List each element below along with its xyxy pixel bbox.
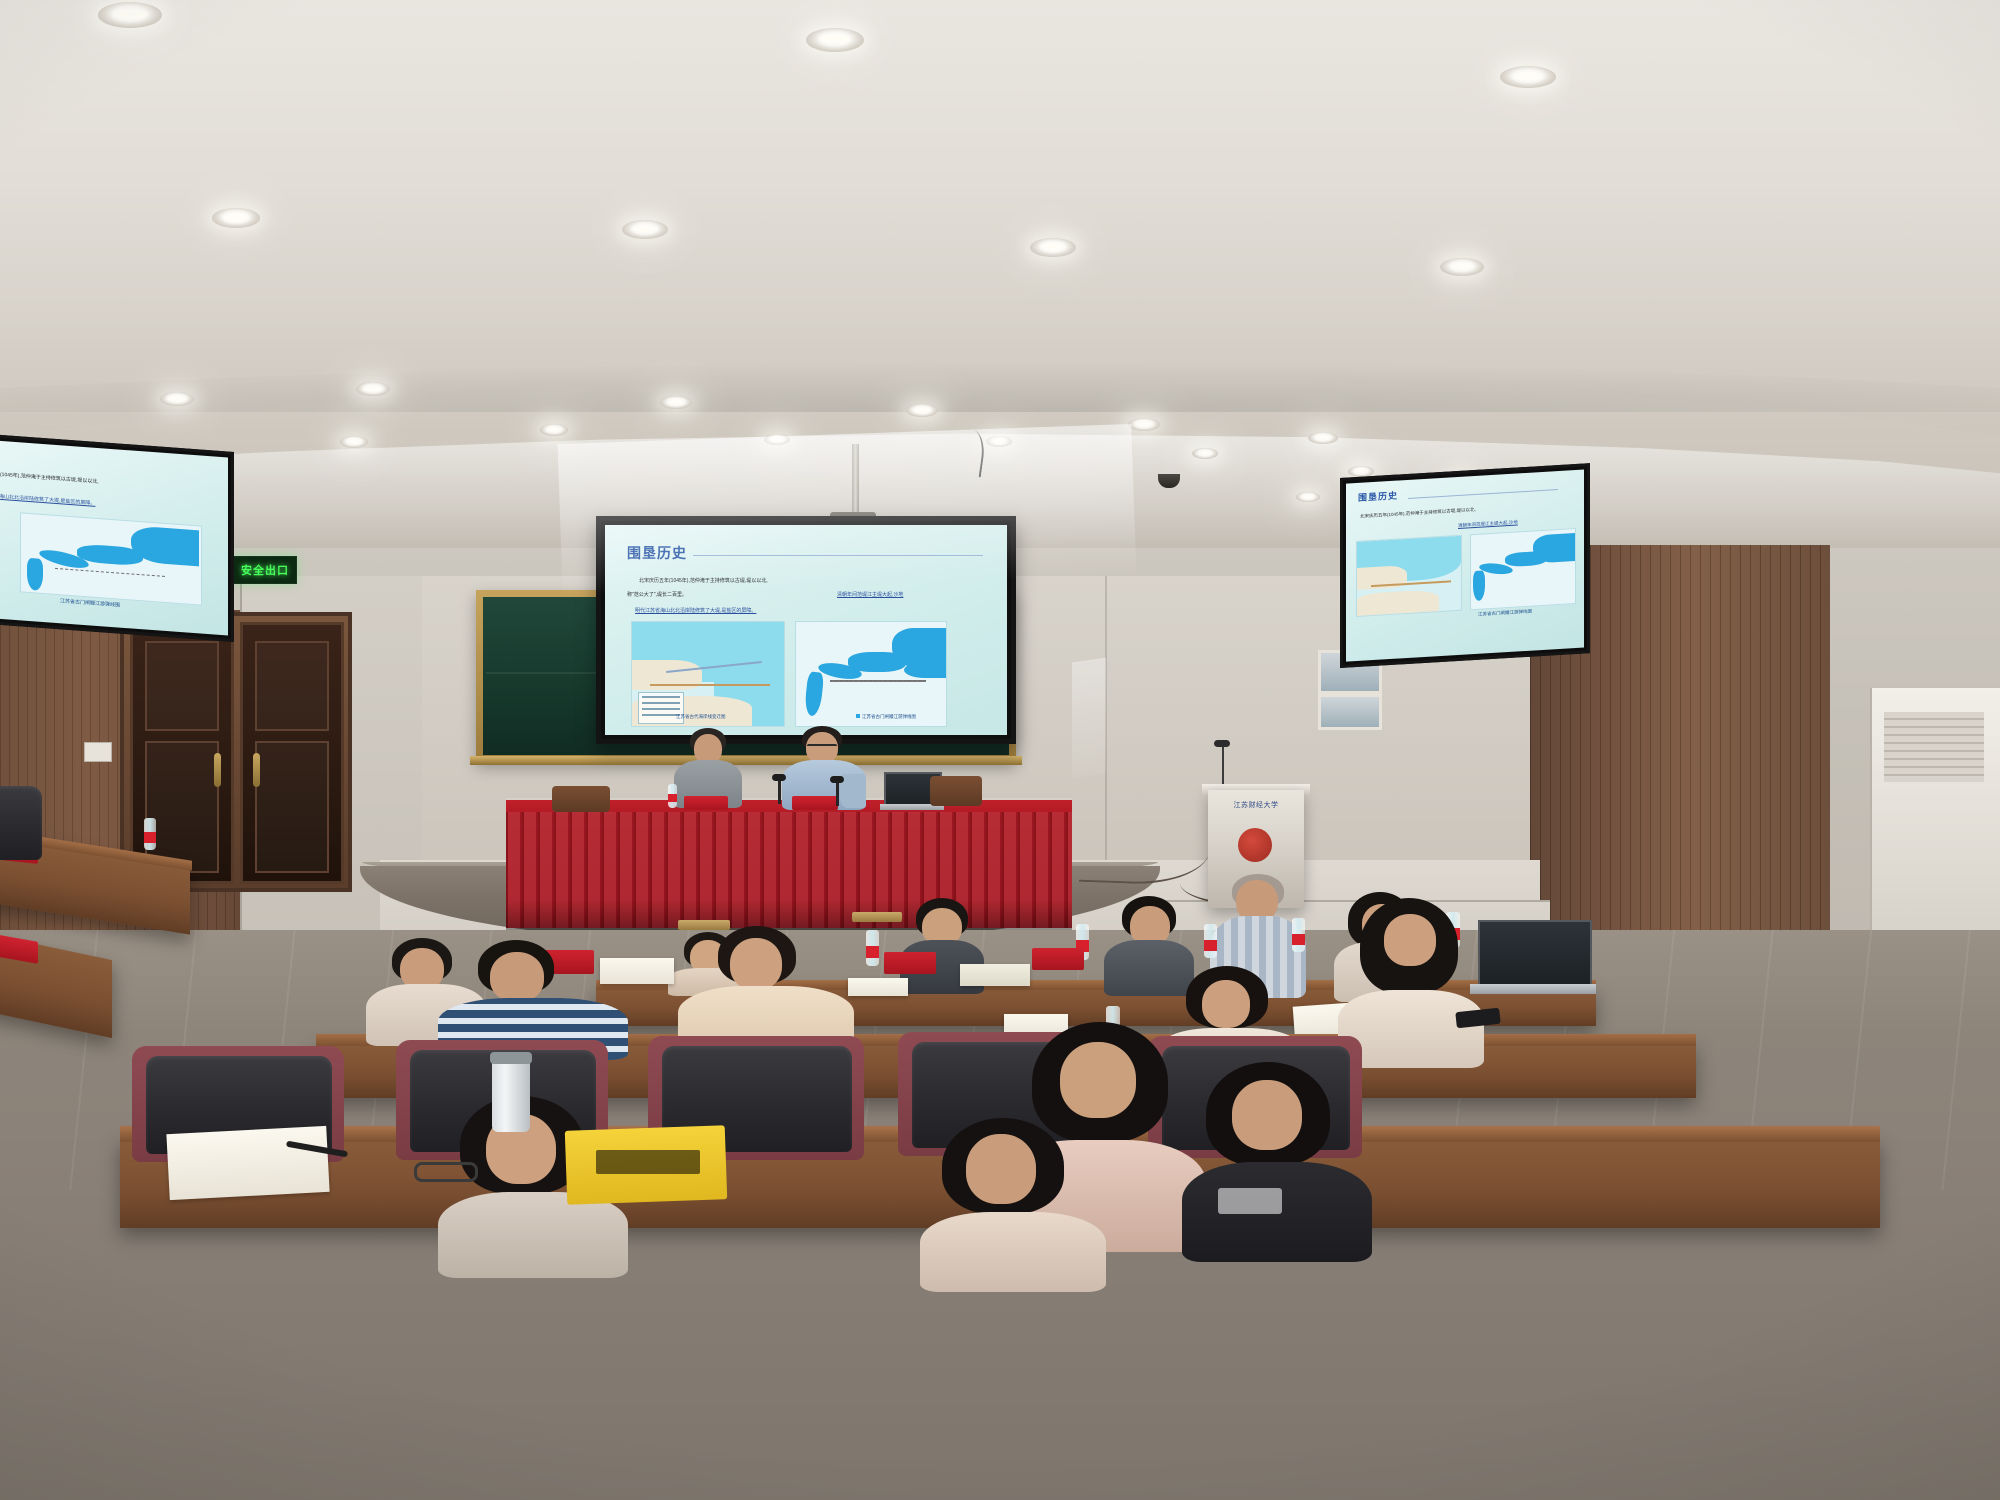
ceiling-downlight (622, 220, 668, 239)
side-right-title: 围垦历史 (1358, 489, 1398, 504)
chalkboard-chalk-rail (470, 756, 1022, 765)
audience-laptop-screen[interactable] (1478, 920, 1592, 990)
name-plate (792, 796, 838, 810)
slide-right-note: 清朝年间范堤江主堤大起,沙地 (837, 591, 903, 598)
side-right-map-river (1470, 528, 1576, 610)
side-left-map (20, 512, 202, 605)
stage-chair[interactable] (930, 776, 982, 806)
door-leaf-right[interactable] (240, 622, 344, 884)
name-plate (884, 952, 936, 974)
side-left-note: 明代江苏省海山北北沿岸陆修筑了大堤,是盐区的屏障。 (0, 491, 95, 507)
microphone[interactable] (778, 780, 781, 804)
glasses-icon (807, 744, 837, 751)
clothing-print (1218, 1188, 1282, 1214)
bottle-label (144, 832, 156, 843)
notebook-cover-mark (596, 1150, 700, 1174)
microphone[interactable] (836, 782, 839, 806)
wall-decor-stripe (1072, 658, 1106, 779)
thermos-cup[interactable] (492, 1058, 530, 1132)
platform-item (852, 912, 902, 922)
microphone-head-icon (772, 774, 786, 781)
bottle-label (866, 946, 879, 958)
ceiling-downlight (340, 436, 368, 448)
ceiling-downlight (1192, 448, 1218, 459)
ceiling-downlight (1440, 258, 1484, 276)
audience-member-foreground (920, 1118, 1106, 1288)
lectern-institution-label: 江苏财经大学 (1216, 800, 1296, 810)
entrance-door[interactable] (120, 612, 352, 892)
ceiling-downlight (356, 382, 390, 396)
bottle-label (1292, 934, 1305, 945)
lectern-emblem-icon (1238, 828, 1272, 862)
handout-paper[interactable] (166, 1126, 329, 1200)
bottle-label (1204, 940, 1217, 951)
ceiling-downlight (660, 396, 692, 409)
name-plate (684, 796, 728, 810)
handout-paper[interactable] (960, 964, 1030, 986)
ceiling-downlight (160, 392, 194, 406)
lectern-microphone-icon (1214, 740, 1230, 747)
projection-screen-main: 围垦历史 北宋庆历五年(1045年),范仲淹于主持修筑以古堤,堤以以北, 称"范… (596, 516, 1016, 744)
exit-sign: 安全出口 (233, 556, 297, 584)
ceiling-downlight (212, 208, 260, 228)
wall-picture (1318, 694, 1382, 730)
microphone-head-icon (830, 776, 844, 783)
side-right-map-coastline (1356, 535, 1462, 617)
ceiling-downlight (1500, 66, 1556, 88)
presenter-left (672, 728, 744, 806)
slide-map-river: 江苏省古门闸鳗江游弹线围 (795, 621, 947, 727)
light-switch[interactable] (84, 742, 112, 762)
side-right-caption: 江苏省古门闸鳗江游弹线围 (1478, 609, 1532, 618)
bottle-label (668, 794, 677, 802)
side-chair-left[interactable] (0, 786, 42, 860)
stage-chair[interactable] (552, 786, 610, 812)
air-conditioner-vent-icon (1884, 712, 1984, 782)
name-plate (1032, 948, 1084, 970)
map-caption-left: 江苏省古代海岸线变迁图 (676, 714, 726, 720)
side-left-text: 北宋庆历五年(1045年),范仲淹于主持修筑以古堤,堤以以北, (0, 469, 99, 486)
audience-member-foreground (1182, 1062, 1372, 1262)
lecture-hall-photo: EPSON 安全出口 (0, 0, 2000, 1500)
projection-screen-right: 围垦历史 北宋庆历五年(1045年),范仲淹于主持修筑以古堤,堤以以北, 清朝年… (1340, 463, 1590, 668)
ceiling-downlight (906, 404, 938, 417)
side-right-note: 清朝年间范堤江主堤大起,沙地 (1458, 519, 1518, 529)
ceiling-downlight (806, 28, 864, 52)
slide-map-coastline: 江苏省古代海岸线变迁图 (631, 621, 785, 727)
ceiling-downlight (540, 424, 568, 436)
slide-paragraph-highlight: 明代江苏省海山北北沿岸陆修筑了大堤,是盐区的屏障。 (635, 607, 756, 614)
ceiling-downlight (98, 2, 162, 28)
eyeglasses-icon (414, 1162, 478, 1182)
handout-paper[interactable] (848, 978, 908, 996)
projection-screen-right-surface: 围垦历史 北宋庆历五年(1045年),范仲淹于主持修筑以古堤,堤以以北, 清朝年… (1346, 470, 1584, 662)
thermos-cup-lid (490, 1052, 532, 1064)
audience-laptop-base[interactable] (1470, 984, 1596, 994)
projection-screen-left-surface: 北宋庆历五年(1045年),范仲淹于主持修筑以古堤,堤以以北, 明代江苏省海山北… (0, 441, 228, 636)
ceiling-downlight (1030, 238, 1076, 257)
ceiling-downlight (1308, 432, 1338, 444)
exit-sign-label: 安全出口 (241, 562, 289, 578)
ceiling-downlight (1296, 492, 1320, 502)
side-right-text: 北宋庆历五年(1045年),范仲淹于主持修筑以古堤,堤以以北, (1360, 506, 1476, 520)
ceiling-downlight (1128, 418, 1160, 431)
projection-screen-left: 北宋庆历五年(1045年),范仲淹于主持修筑以古堤,堤以以北, 明代江苏省海山北… (0, 434, 234, 642)
map-caption-right: 江苏省古门闸鳗江游弹线围 (862, 714, 916, 720)
screen-glare (558, 424, 1137, 597)
